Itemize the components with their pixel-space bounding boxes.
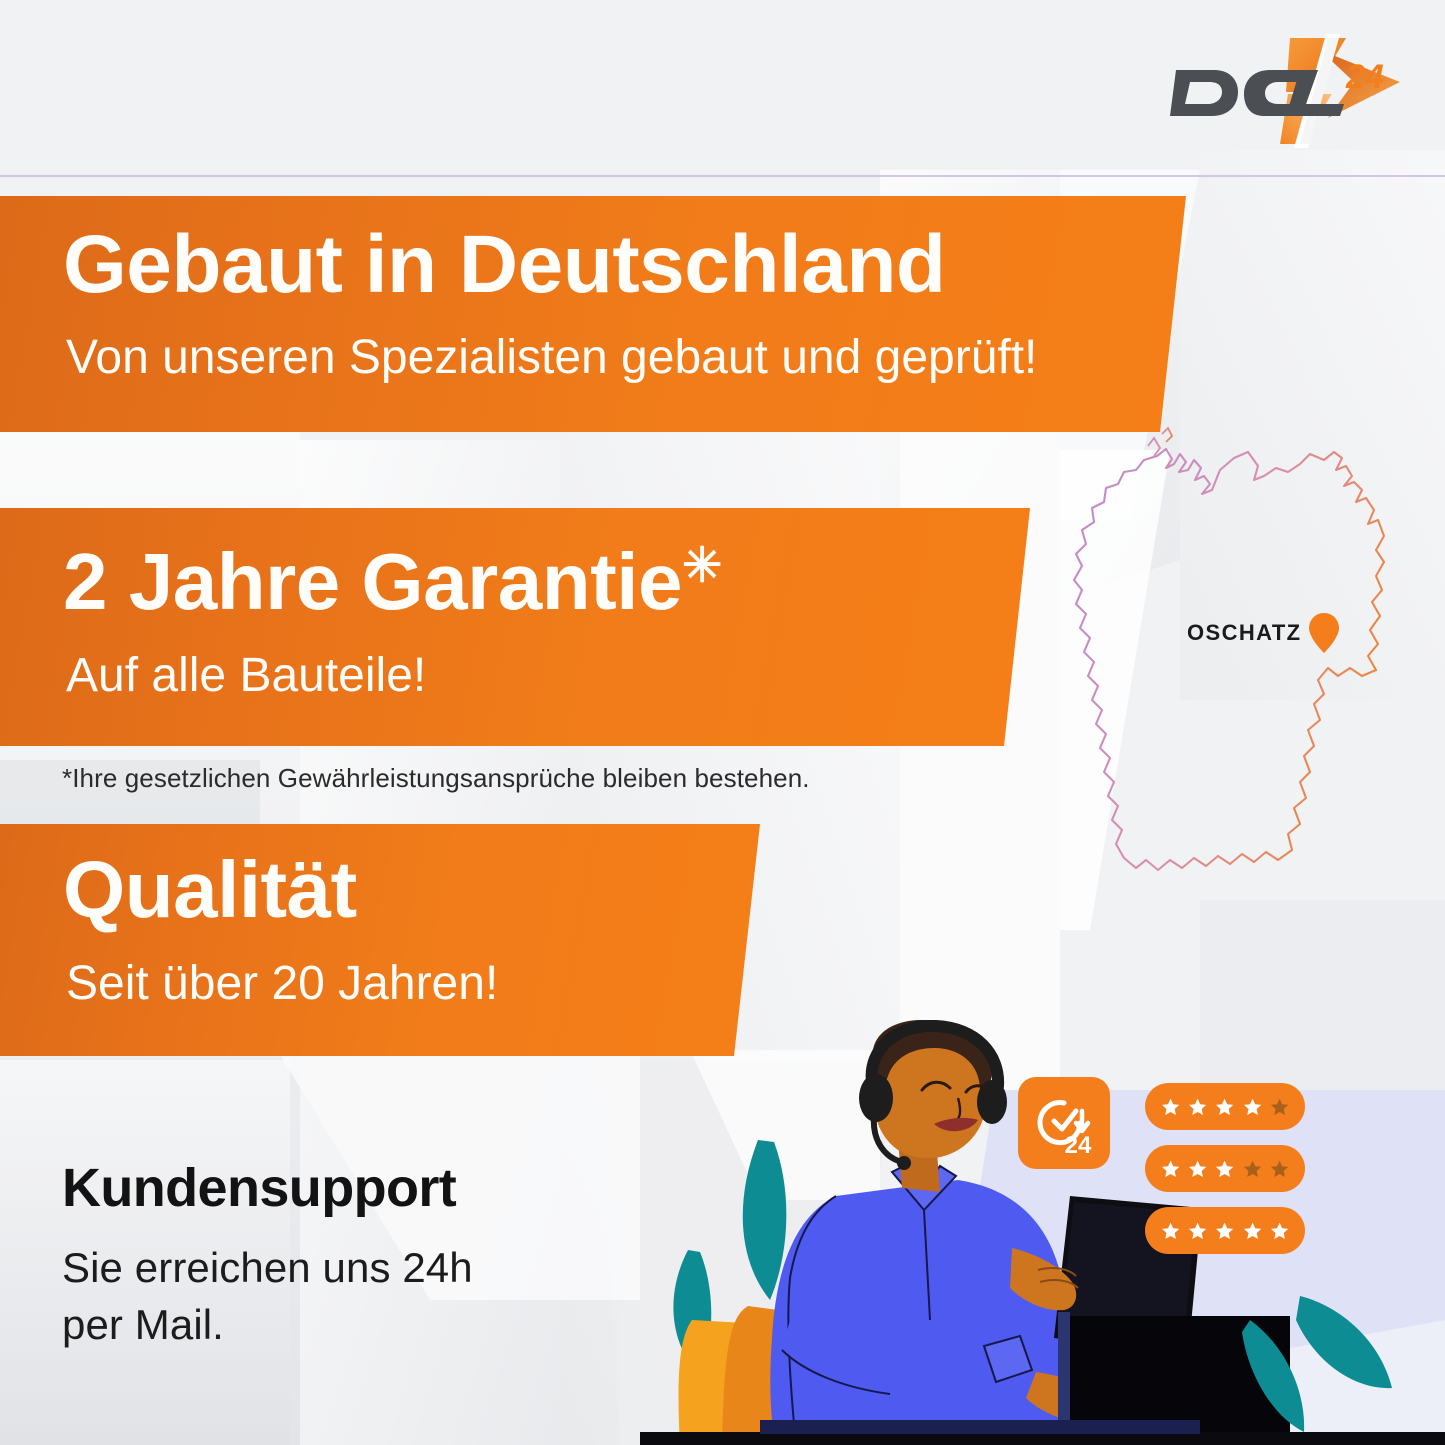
support-line-2: per Mail. [62, 1296, 473, 1353]
star-icon-filled [1215, 1218, 1234, 1244]
rating-pill-row-3 [1145, 1207, 1305, 1254]
kundensupport-block: Kundensupport Sie erreichen uns 24h per … [62, 1160, 473, 1353]
warranty-footnote: *Ihre gesetzlichen Gewährleistungsansprü… [62, 763, 810, 794]
star-icon-filled [1270, 1218, 1289, 1244]
banner-zwei-jahre-garantie: 2 Jahre Garantie✳ Auf alle Bauteile! [0, 508, 1030, 746]
star-icon-filled [1215, 1156, 1234, 1182]
headset-earcup [859, 1074, 893, 1122]
star-icon-filled [1243, 1094, 1262, 1120]
rating-pill-row-1 [1145, 1083, 1305, 1130]
banner-gebaut-in-deutschland: Gebaut in Deutschland Von unseren Spezia… [0, 196, 1186, 432]
logo-24-text: 24 [1345, 58, 1384, 96]
badge-24-text: 24 [1065, 1132, 1092, 1159]
germany-map [1062, 424, 1445, 924]
star-icon-filled [1161, 1156, 1180, 1182]
map-city-label: OSCHATZ [1187, 620, 1302, 646]
star-icon-filled [1188, 1156, 1207, 1182]
banner-title: Qualität [63, 850, 357, 930]
headset-mic [897, 1156, 911, 1170]
star-icon-filled [1215, 1094, 1234, 1120]
brand-logo[interactable]: 24 DCL [1168, 30, 1418, 150]
star-icon-empty [1270, 1094, 1289, 1120]
star-icon-empty [1270, 1156, 1289, 1182]
banner-title: 2 Jahre Garantie [63, 537, 682, 626]
germany-outline-icon [1062, 424, 1445, 924]
logo-mark-icon: 24 DCL [1168, 30, 1418, 150]
banner-subtitle: Von unseren Spezialisten gebaut und gepr… [66, 334, 1037, 382]
agent-shirt [770, 1180, 1072, 1445]
banner-subtitle: Seit über 20 Jahren! [66, 960, 498, 1008]
support-24h-badge: 24 [1018, 1077, 1110, 1169]
star-icon-filled [1161, 1218, 1180, 1244]
support-line-1: Sie erreichen uns 24h [62, 1239, 473, 1296]
star-icon-filled [1243, 1218, 1262, 1244]
banner-title-wrap: 2 Jahre Garantie✳ [63, 542, 722, 622]
infographic-canvas: 24 DCL Gebaut in Deutschland Von unseren… [0, 0, 1445, 1445]
star-icon-filled [1161, 1094, 1180, 1120]
star-icon-empty [1243, 1156, 1262, 1182]
banner-subtitle: Auf alle Bauteile! [66, 652, 426, 700]
support-title: Kundensupport [62, 1160, 473, 1217]
rating-pill-row-2 [1145, 1145, 1305, 1192]
star-icon-filled [1188, 1094, 1207, 1120]
banner-title: Gebaut in Deutschland [63, 224, 946, 306]
keyboard [760, 1420, 1200, 1434]
asterisk-icon: ✳ [682, 539, 722, 592]
star-icon-filled [1188, 1218, 1207, 1244]
map-pin-icon [1308, 611, 1340, 655]
plant-leaf [743, 1140, 787, 1300]
